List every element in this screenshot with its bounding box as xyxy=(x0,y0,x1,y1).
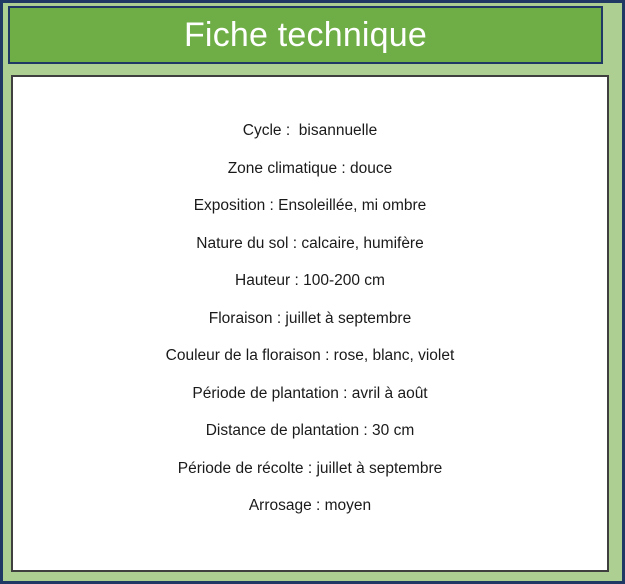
spec-line-nature-du-sol: Nature du sol : calcaire, humifère xyxy=(13,236,607,274)
page-title: Fiche technique xyxy=(184,18,427,52)
spec-line-couleur-floraison: Couleur de la floraison : rose, blanc, v… xyxy=(13,348,607,386)
spec-line-hauteur: Hauteur : 100-200 cm xyxy=(13,273,607,311)
title-banner: Fiche technique xyxy=(8,6,603,64)
spec-line-zone-climatique: Zone climatique : douce xyxy=(13,161,607,199)
spec-line-arrosage: Arrosage : moyen xyxy=(13,498,607,536)
content-panel: Cycle : bisannuelle Zone climatique : do… xyxy=(11,75,609,572)
slide-frame: Fiche technique Cycle : bisannuelle Zone… xyxy=(0,0,625,584)
spec-line-floraison: Floraison : juillet à septembre xyxy=(13,311,607,349)
spec-line-cycle: Cycle : bisannuelle xyxy=(13,123,607,161)
spec-line-periode-recolte: Période de récolte : juillet à septembre xyxy=(13,461,607,499)
spec-list: Cycle : bisannuelle Zone climatique : do… xyxy=(13,77,607,536)
spec-line-periode-plantation: Période de plantation : avril à août xyxy=(13,386,607,424)
spec-line-distance-plantation: Distance de plantation : 30 cm xyxy=(13,423,607,461)
spec-line-exposition: Exposition : Ensoleillée, mi ombre xyxy=(13,198,607,236)
